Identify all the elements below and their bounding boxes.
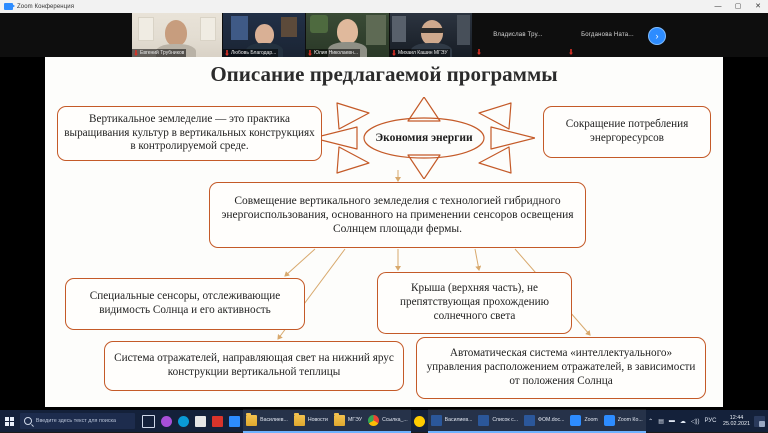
node-auto-control: Автоматическая система «интеллектуальног… [416, 337, 706, 399]
participant-filmstrip[interactable]: Евгений Трубников Любовь Благодар... [0, 13, 768, 57]
taskbar-item-yandex[interactable] [411, 410, 428, 432]
participant-name: Михаил Кашин МГЭУ [398, 50, 448, 56]
windows-start-icon[interactable] [0, 410, 20, 432]
search-input[interactable]: Введите здесь текст для поиска [20, 413, 135, 429]
central-sun-label: Экономия энергии [313, 97, 535, 179]
node-combination: Совмещение вертикального земледелия с те… [209, 182, 586, 248]
search-icon [24, 417, 32, 425]
mic-muted-icon [308, 50, 312, 56]
taskbar-item-cortana[interactable] [158, 410, 175, 432]
taskbar-item-label: Василиев... [260, 417, 288, 423]
chrome-browser-icon [368, 415, 379, 426]
folder-icon [294, 415, 305, 426]
taskbar-item-folder-3[interactable]: МГЭУ [331, 409, 365, 433]
node-vertical-farming: Вертикальное земледелие — это практика в… [57, 106, 322, 161]
clock-date: 25.02.2021 [723, 421, 750, 427]
participant-tile[interactable]: Любовь Благодар... [223, 13, 305, 57]
participant-name: Евгений Трубников [140, 50, 184, 56]
language-indicator[interactable]: РУС [705, 418, 717, 424]
chevron-up-icon[interactable]: ⌃ [648, 418, 653, 425]
battery-icon[interactable]: ▬ [669, 418, 675, 424]
node-energy-reduction: Сокращение потребления энергоресурсов [543, 106, 711, 158]
taskbar-item-word-1[interactable]: Василиев... [428, 409, 476, 433]
taskbar-item-label: Василиев... [445, 417, 473, 423]
cortana-icon [161, 416, 172, 427]
taskbar-item-chrome[interactable]: Ссылка_... [365, 409, 411, 433]
taskbar-item-label: ФОМ.doc... [538, 417, 564, 423]
mic-muted-icon [569, 49, 573, 55]
participant-nametag: Юлия Николаевн... [306, 49, 360, 57]
node-reflectors: Система отражателей, направляющая свет н… [104, 341, 404, 391]
taskbar-item-zoom-meeting[interactable]: Zoom Ко... [601, 409, 646, 433]
taskbar-item-folder-2[interactable]: Новости [291, 409, 331, 433]
windows-logo-icon [5, 417, 14, 426]
speaker-icon[interactable]: ◁)) [691, 418, 700, 425]
participant-name: Юлия Николаевн... [314, 50, 358, 56]
search-placeholder: Введите здесь текст для поиска [36, 418, 116, 424]
mic-muted-icon [225, 50, 229, 56]
central-sun-shape: Экономия энергии [313, 97, 535, 179]
folder-icon [334, 415, 345, 426]
taskbar-item-label: Zoom Ко... [618, 417, 643, 423]
window-title: Zoom Конференция [17, 4, 74, 10]
zoom-app-icon [570, 415, 581, 426]
participant-nametag: Михаил Кашин МГЭУ [390, 49, 450, 57]
mic-muted-icon [392, 50, 396, 56]
node-roof: Крыша (верхняя часть), не препятствующая… [377, 272, 572, 334]
participant-tile[interactable]: Михаил Кашин МГЭУ [390, 13, 472, 57]
taskbar-item-label: Список с... [492, 417, 518, 423]
action-center-icon[interactable] [754, 416, 765, 427]
taskbar-item-label: Новости [308, 417, 328, 423]
taskbar-item-word-3[interactable]: ФОМ.doc... [521, 409, 567, 433]
taskbar-item-zoom-app[interactable]: Zoom [567, 409, 600, 433]
node-sensors: Специальные сенсоры, отслеживающие видим… [65, 278, 305, 330]
word-document-icon [524, 415, 535, 426]
yandex-browser-icon [414, 416, 425, 427]
task-view-glyph [142, 415, 155, 428]
window-controls: — ▢ ✕ [708, 0, 768, 13]
mail-icon [229, 416, 240, 427]
maximize-button[interactable]: ▢ [728, 0, 748, 13]
mic-muted-icon [477, 49, 481, 55]
participant-tile[interactable]: Богданова Ната... [565, 13, 650, 57]
onedrive-icon[interactable]: ☁ [680, 418, 686, 425]
word-document-icon [478, 415, 489, 426]
store-icon [195, 416, 206, 427]
taskbar-item-edge[interactable] [175, 410, 192, 432]
mic-muted-icon [134, 50, 138, 56]
participant-tile[interactable]: Владислав Тру... [473, 13, 563, 57]
clock[interactable]: 12:44 25.02.2021 [723, 415, 750, 427]
participant-nametag: Любовь Благодар... [223, 49, 278, 57]
system-tray: ⌃ ▤ ▬ ☁ ◁)) РУС 12:44 25.02.2021 [646, 410, 768, 432]
task-view-icon[interactable] [139, 410, 158, 432]
edge-browser-icon [178, 416, 189, 427]
participant-name: Владислав Тру... [493, 32, 543, 38]
participant-tile[interactable]: Юлия Николаевн... [306, 13, 389, 57]
participant-tile[interactable]: Евгений Трубников [132, 13, 222, 57]
taskbar-item-label: Ссылка_... [382, 417, 408, 423]
chevron-right-icon: › [656, 32, 659, 41]
taskbar-item-label: Zoom [584, 417, 597, 423]
next-page-button[interactable]: › [648, 27, 666, 45]
taskbar-item-word-2[interactable]: Список с... [475, 409, 521, 433]
close-button[interactable]: ✕ [748, 0, 768, 13]
zoom-video-icon [4, 3, 13, 10]
taskbar-item-store[interactable] [192, 410, 209, 432]
word-document-icon [431, 415, 442, 426]
pdf-reader-icon [212, 416, 223, 427]
taskbar-item-mail[interactable] [226, 410, 243, 432]
participant-name: Любовь Благодар... [231, 50, 276, 56]
participant-name: Богданова Ната... [581, 32, 634, 38]
minimize-button[interactable]: — [708, 0, 728, 13]
taskbar-item-folder-1[interactable]: Василиев... [243, 409, 291, 433]
network-icon[interactable]: ▤ [658, 418, 664, 425]
folder-icon [246, 415, 257, 426]
windows-taskbar: Введите здесь текст для поиска Василиев.… [0, 410, 768, 432]
window-titlebar: Zoom Конференция — ▢ ✕ [0, 0, 768, 13]
shared-slide: Описание предлагаемой программы [45, 57, 723, 407]
taskbar-item-label: МГЭУ [348, 417, 362, 423]
zoom-meeting-icon [604, 415, 615, 426]
participant-nametag: Евгений Трубников [132, 49, 186, 57]
zoom-meeting-window: Zoom Конференция — ▢ ✕ Евгений Трубников [0, 0, 768, 410]
taskbar-item-pdf[interactable] [209, 410, 226, 432]
